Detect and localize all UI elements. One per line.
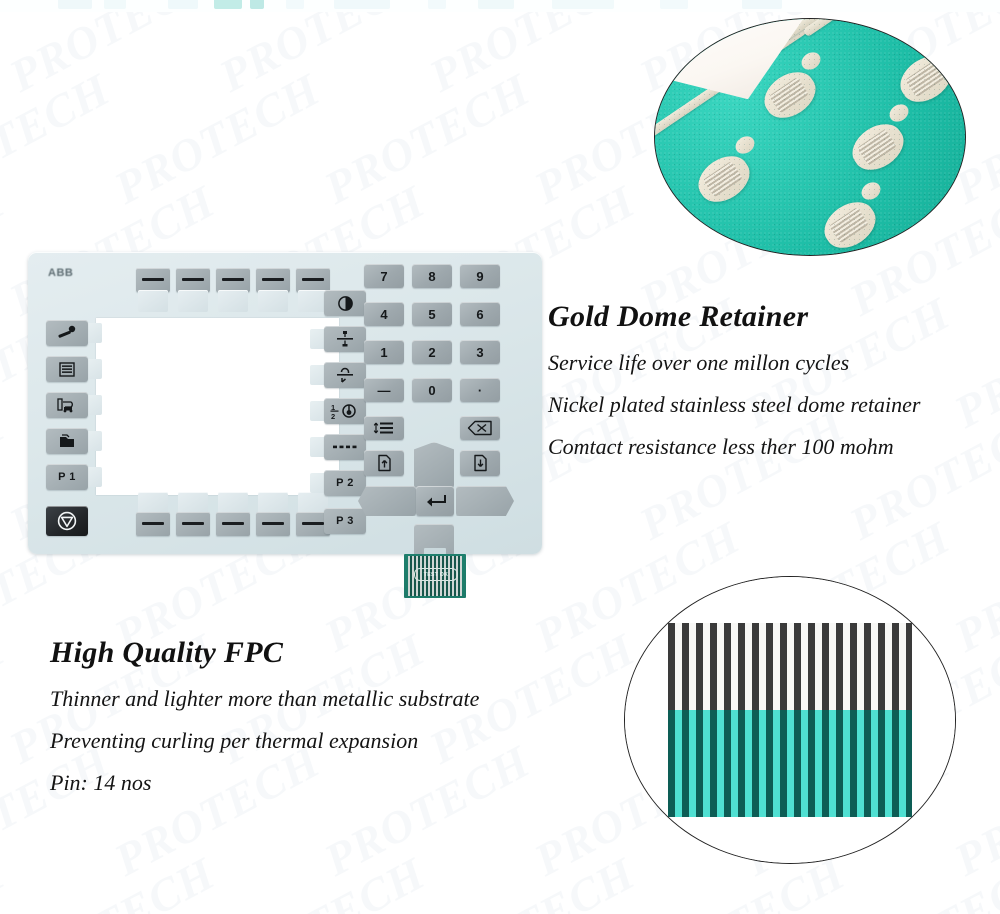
fpc-title: High Quality FPC	[50, 636, 479, 670]
page-down-icon	[473, 454, 488, 472]
program-key[interactable]	[46, 392, 104, 418]
fpc-line-2: Preventing curling per thermal expansion	[50, 728, 479, 754]
fpc-line-3: Pin: 14 nos	[50, 770, 479, 796]
dash-icon	[262, 522, 284, 525]
four-dots-key[interactable]	[308, 434, 366, 460]
watermark-text: PROTECH	[0, 174, 14, 326]
fpc-tail-connector: TEST OK	[404, 554, 466, 598]
dash-icon	[222, 522, 244, 525]
top-strip-fragment	[286, 0, 304, 9]
backspace-icon	[467, 420, 493, 436]
menu-key[interactable]	[46, 356, 104, 382]
svg-text:2: 2	[331, 412, 335, 420]
p3-key[interactable]: P 3	[308, 508, 366, 534]
soft-key-f7[interactable]	[176, 492, 210, 536]
p2-key-label: P 2	[336, 477, 354, 489]
half-speed-key[interactable]: 1 2	[308, 398, 366, 424]
p1-key[interactable]: P 1	[46, 464, 104, 490]
list-insert-key[interactable]	[364, 416, 404, 440]
axis-motion-key[interactable]	[308, 326, 366, 352]
gold-dome-title: Gold Dome Retainer	[548, 300, 921, 334]
top-strip-fragment	[478, 0, 514, 9]
four-dots-icon	[332, 444, 358, 450]
top-strip-fragment	[168, 0, 198, 9]
watermark-text: PROTECH	[211, 846, 434, 914]
watermark-text: PROTECH	[0, 0, 14, 103]
list-lines-icon	[58, 362, 76, 377]
arrow-right-key[interactable]	[456, 486, 514, 516]
dash-icon	[182, 278, 204, 281]
p1-key-label: P 1	[58, 471, 76, 483]
dash-icon	[142, 522, 164, 525]
gold-dome-line-3: Comtact resistance less ther 100 mohm	[548, 434, 921, 460]
watermark-text: PROTECH	[1, 846, 224, 914]
backspace-key[interactable]	[460, 416, 500, 440]
abb-logo: ABB	[48, 267, 73, 279]
watermark-text: PROTECH	[0, 846, 14, 914]
dash-icon	[302, 278, 324, 281]
enter-key[interactable]	[416, 486, 454, 516]
product-listing-canvas: PROTECHPROTECHPROTECHPROTECHPROTECHPROTE…	[0, 0, 1000, 914]
list-insert-icon	[373, 420, 395, 436]
top-strip-fragment	[214, 0, 242, 9]
num-key-5[interactable]: 5	[412, 302, 452, 326]
emergency-stop-key[interactable]	[46, 506, 88, 536]
contrast-icon	[337, 295, 354, 312]
num-key-8[interactable]: 8	[412, 264, 452, 288]
top-strip-fragment	[58, 0, 92, 9]
watermark-text: PROTECH	[421, 846, 644, 914]
arrow-up-key[interactable]	[414, 442, 454, 488]
watermark-text: PROTECH	[421, 0, 644, 103]
gold-dome-retainer-photo	[654, 18, 966, 256]
watermark-text: PROTECH	[211, 0, 434, 103]
gold-dome-text-block: Gold Dome Retainer Service life over one…	[548, 300, 921, 476]
gold-dome-line-2: Nickel plated stainless steel dome retai…	[548, 392, 921, 418]
cut-off-top-strip	[0, 0, 1000, 12]
fpc-text-block: High Quality FPC Thinner and lighter mor…	[50, 636, 479, 812]
dash-icon	[222, 278, 244, 281]
num-key-1[interactable]: 1	[364, 340, 404, 364]
watermark-text: PROTECH	[106, 62, 329, 214]
lcd-display-window	[96, 318, 339, 495]
dash-icon	[182, 522, 204, 525]
dash-icon	[142, 278, 164, 281]
watermark-text: PROTECH	[1, 0, 224, 103]
soft-key-f9[interactable]	[256, 492, 290, 536]
top-strip-fragment	[660, 0, 688, 9]
page-up-icon	[377, 454, 392, 472]
num-key-4[interactable]: 4	[364, 302, 404, 326]
enter-arrow-icon	[423, 493, 447, 509]
top-strip-fragment	[334, 0, 390, 9]
watermark-text: PROTECH	[0, 398, 14, 550]
arrow-left-key[interactable]	[358, 486, 416, 516]
top-strip-fragment	[104, 0, 126, 9]
contrast-key[interactable]	[308, 290, 366, 316]
folder-icon	[57, 433, 77, 449]
files-key[interactable]	[46, 428, 104, 454]
soft-key-f6[interactable]	[136, 492, 170, 536]
num-key-minus[interactable]: —	[364, 378, 404, 402]
p2-key[interactable]: P 2	[308, 470, 366, 496]
fpc-ribbon-photo	[624, 576, 956, 864]
program-flow-icon	[56, 397, 78, 413]
num-key-9[interactable]: 9	[460, 264, 500, 288]
num-key-3[interactable]: 3	[460, 340, 500, 364]
num-key-6[interactable]: 6	[460, 302, 500, 326]
axis-motion-icon	[335, 329, 355, 349]
num-key-2[interactable]: 2	[412, 340, 452, 364]
soft-key-f2[interactable]	[176, 268, 210, 312]
watermark-text: PROTECH	[0, 622, 14, 774]
watermark-text: PROTECH	[0, 62, 119, 214]
test-ok-stamp: TEST OK	[414, 568, 458, 581]
soft-key-f4[interactable]	[256, 268, 290, 312]
watermark-text: PROTECH	[946, 286, 1000, 438]
stop-circle-triangle-icon	[56, 510, 78, 532]
num-key-7[interactable]: 7	[364, 264, 404, 288]
reorient-key[interactable]	[308, 362, 366, 388]
jog-key[interactable]	[46, 320, 104, 346]
membrane-keypad-panel: ABB	[28, 252, 542, 554]
gold-dome-line-1: Service life over one millon cycles	[548, 350, 921, 376]
p3-key-label: P 3	[336, 515, 354, 527]
half-speed-icon: 1 2	[330, 402, 360, 420]
watermark-text: PROTECH	[316, 62, 539, 214]
top-strip-fragment	[742, 0, 782, 9]
dash-icon	[262, 278, 284, 281]
soft-key-f8[interactable]	[216, 492, 250, 536]
top-strip-fragment	[552, 0, 614, 9]
reorient-icon	[335, 365, 355, 385]
top-strip-fragment	[428, 0, 446, 9]
joystick-icon	[56, 325, 78, 341]
page-up-key[interactable]	[364, 450, 404, 476]
soft-key-f1[interactable]	[136, 268, 170, 312]
fpc-line-1: Thinner and lighter more than metallic s…	[50, 686, 479, 712]
soft-key-f3[interactable]	[216, 268, 250, 312]
page-down-key[interactable]	[460, 450, 500, 476]
num-key-decimal[interactable]: ·	[460, 378, 500, 402]
top-strip-fragment	[250, 0, 264, 9]
num-key-0[interactable]: 0	[412, 378, 452, 402]
